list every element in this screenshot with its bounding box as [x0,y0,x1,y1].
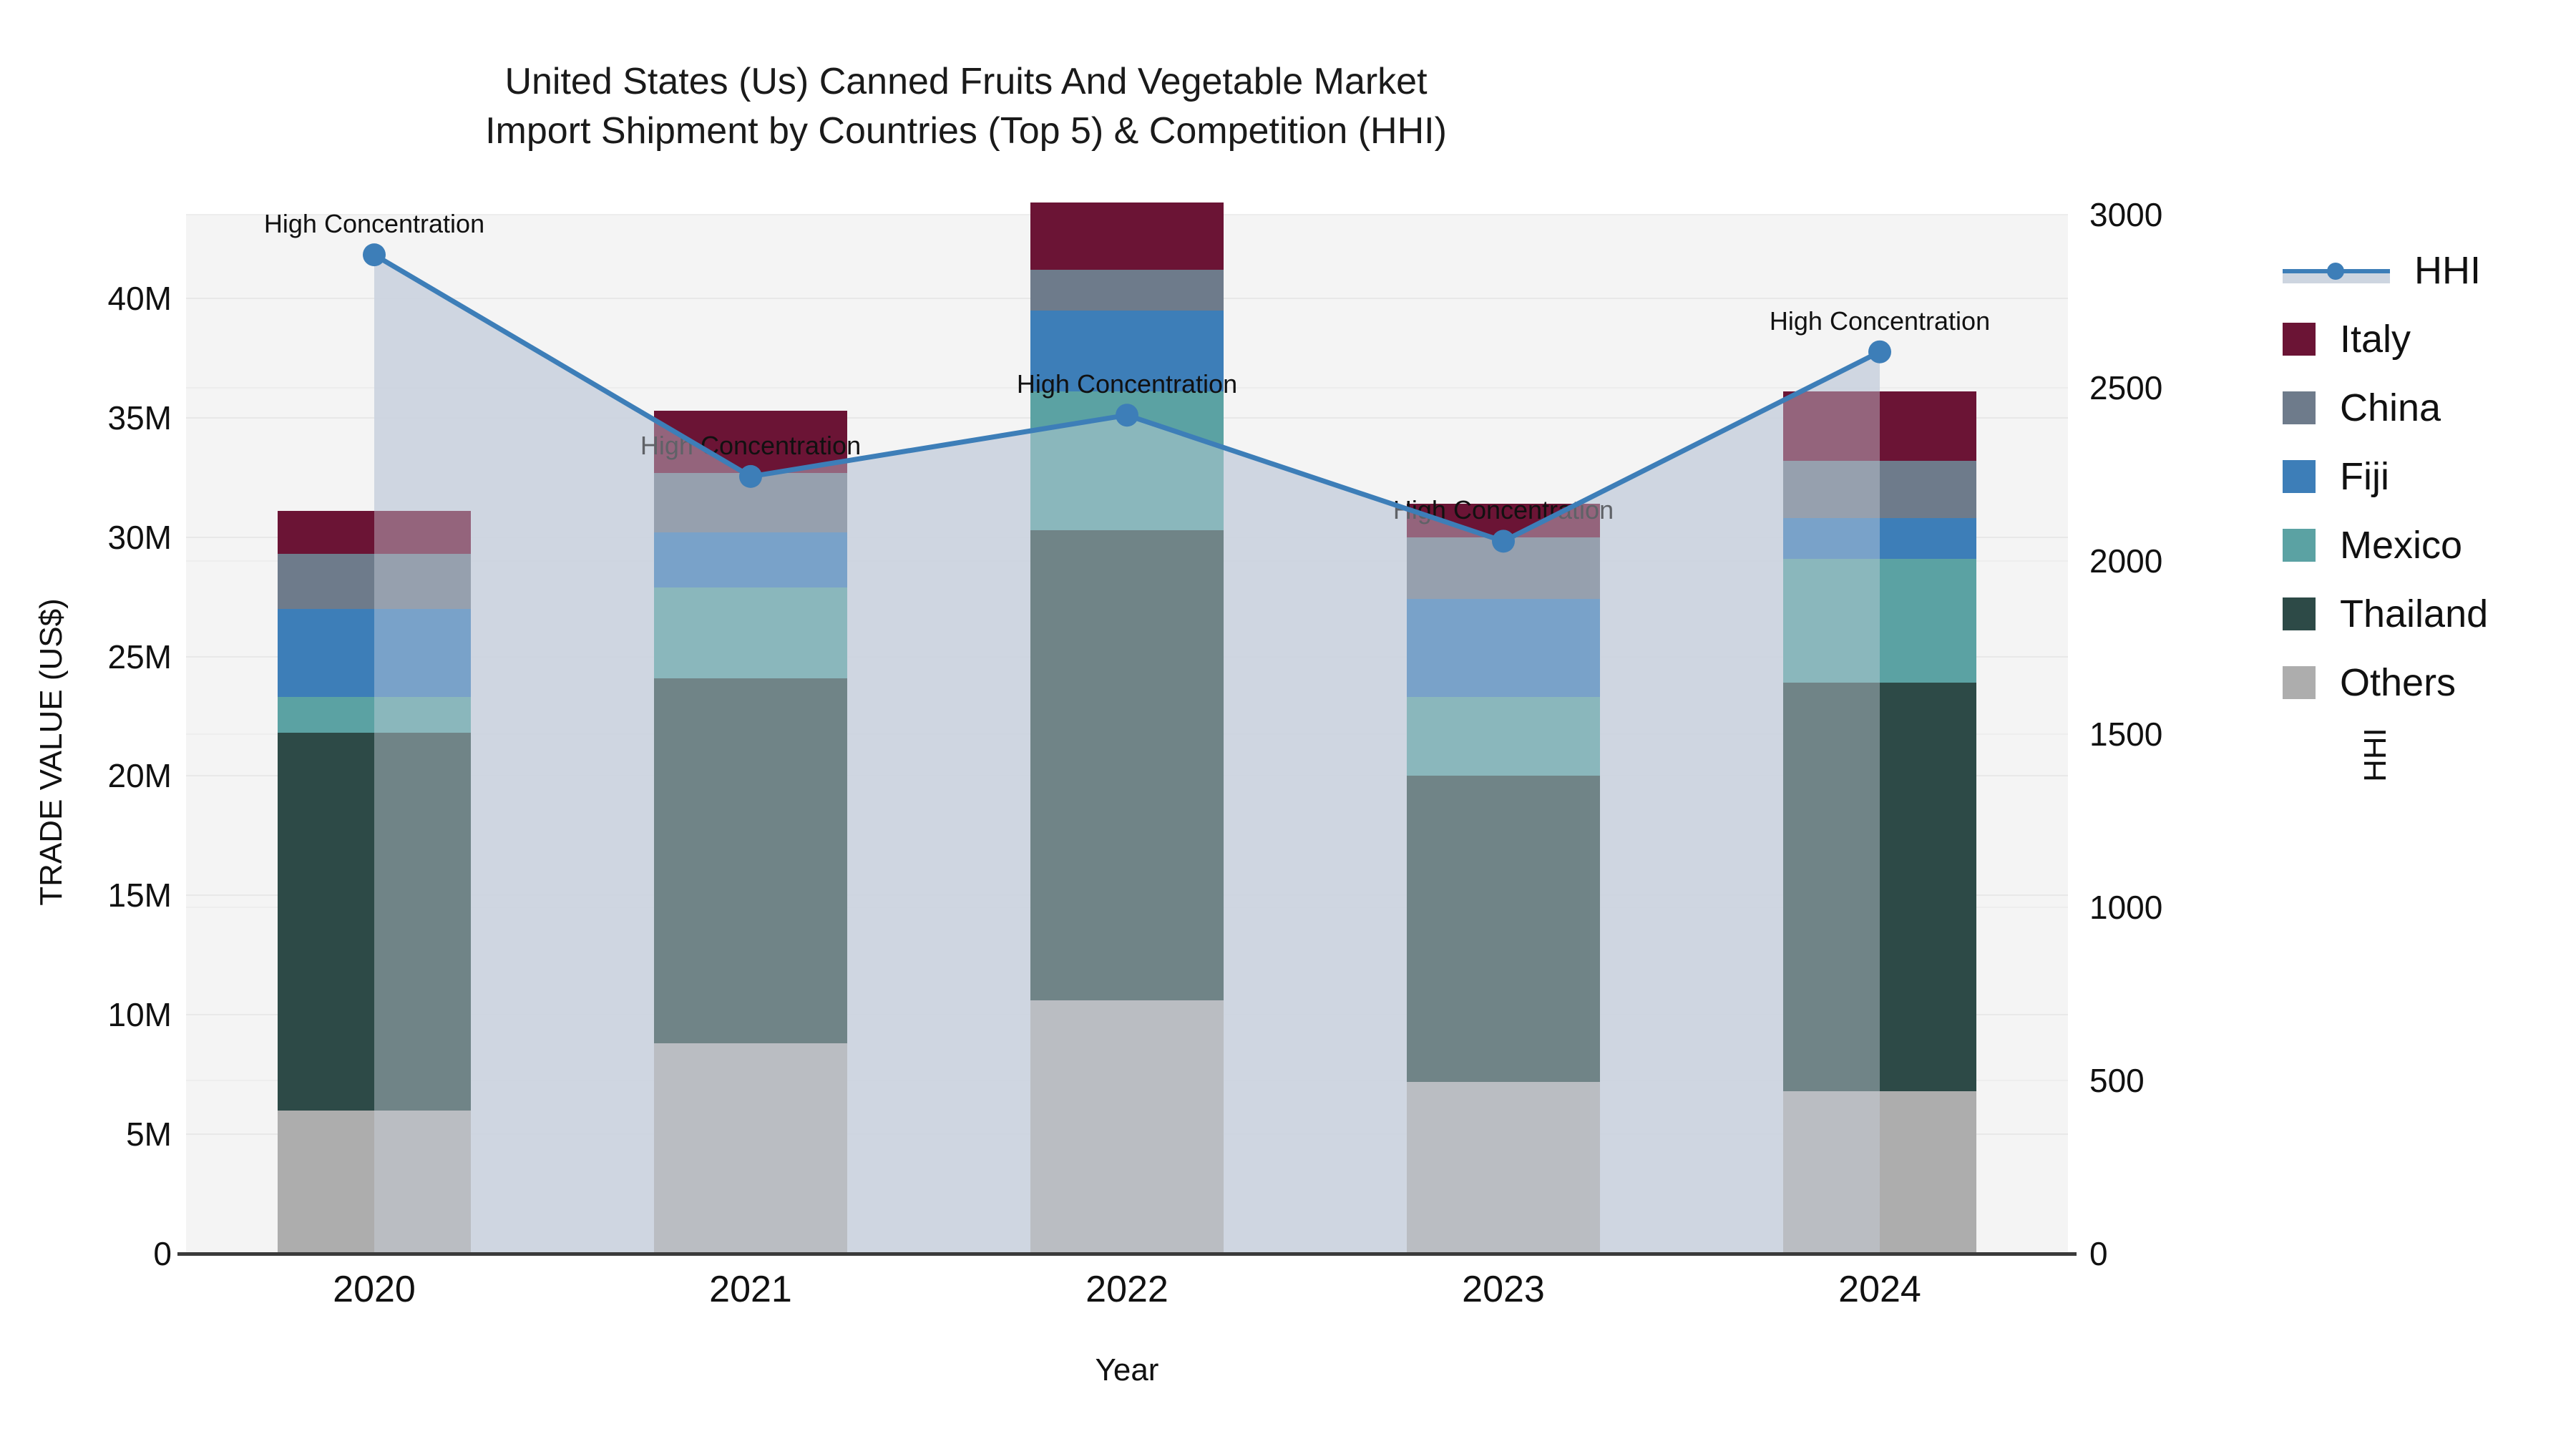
legend: HHIItalyChinaFijiMexicoThailandOthers [2283,236,2488,717]
bar-stack-2023[interactable] [1407,215,1600,1254]
bar-segment-others-2021[interactable] [654,1043,847,1254]
y-tick-left-0: 0 [14,1234,172,1273]
bar-segment-thailand-2024[interactable] [1783,683,1976,1091]
x-tick-2022: 2022 [984,1268,1270,1311]
bar-segment-others-2020[interactable] [278,1111,471,1254]
bar-stack-2024[interactable] [1783,215,1976,1254]
bar-segment-fiji-2021[interactable] [654,532,847,587]
bar-segment-china-2023[interactable] [1407,537,1600,600]
legend-item-mexico[interactable]: Mexico [2283,511,2488,580]
legend-swatch-others-icon [2283,666,2316,699]
y-axis-left-title: TRADE VALUE (US$) [34,537,69,967]
legend-label: Thailand [2340,592,2488,636]
legend-label: Others [2340,660,2456,705]
bar-segment-mexico-2023[interactable] [1407,697,1600,776]
plot-area: High ConcentrationHigh ConcentrationHigh… [186,215,2068,1254]
bar-segment-mexico-2021[interactable] [654,587,847,678]
legend-dot-icon [2327,263,2344,280]
bar-segment-mexico-2022[interactable] [1030,391,1224,530]
legend-label: Italy [2340,317,2411,361]
y-tick-right-2000: 2000 [2089,542,2275,580]
annotation-high-concentration-2024: High Concentration [1770,306,1990,336]
legend-swatch-fiji-icon [2283,460,2316,493]
legend-item-others[interactable]: Others [2283,648,2488,717]
annotation-high-concentration-2022: High Concentration [1017,369,1237,399]
y-tick-left-10M: 10M [14,995,172,1034]
y-tick-right-0: 0 [2089,1234,2275,1273]
legend-label: Mexico [2340,523,2462,567]
bar-segment-others-2022[interactable] [1030,1000,1224,1254]
bar-segment-others-2023[interactable] [1407,1082,1600,1254]
y-tick-left-35M: 35M [14,399,172,437]
annotation-high-concentration-2020: High Concentration [264,209,484,239]
bar-segment-china-2020[interactable] [278,554,471,609]
legend-item-fiji[interactable]: Fiji [2283,442,2488,511]
x-tick-2024: 2024 [1737,1268,2023,1311]
bar-segment-thailand-2023[interactable] [1407,776,1600,1081]
chart-title-line-1: United States (Us) Canned Fruits And Veg… [0,57,1932,107]
bar-segment-fiji-2024[interactable] [1783,518,1976,559]
annotation-high-concentration-2023: High Concentration [1393,495,1614,525]
y-tick-left-40M: 40M [14,279,172,318]
bar-segment-thailand-2022[interactable] [1030,530,1224,1001]
chart-title: United States (Us) Canned Fruits And Veg… [0,57,1932,155]
legend-label: China [2340,386,2441,430]
legend-line-marker-icon [2283,254,2390,287]
legend-item-thailand[interactable]: Thailand [2283,580,2488,648]
bar-segment-others-2024[interactable] [1783,1091,1976,1254]
legend-label: Fiji [2340,454,2389,499]
bar-segment-mexico-2020[interactable] [278,697,471,733]
y-axis-zero-tick [177,1252,187,1256]
bar-segment-italy-2022[interactable] [1030,203,1224,269]
legend-item-china[interactable]: China [2283,374,2488,442]
y-tick-right-500: 500 [2089,1061,2275,1100]
x-tick-2021: 2021 [608,1268,894,1311]
y-tick-right-1000: 1000 [2089,888,2275,927]
y-tick-right-2500: 2500 [2089,369,2275,407]
x-tick-2020: 2020 [231,1268,517,1311]
bar-segment-china-2024[interactable] [1783,461,1976,518]
bar-segment-italy-2024[interactable] [1783,391,1976,461]
bar-segment-fiji-2020[interactable] [278,609,471,698]
legend-item-hhi[interactable]: HHI [2283,236,2488,305]
x-tick-2023: 2023 [1360,1268,1646,1311]
legend-swatch-mexico-icon [2283,529,2316,562]
bar-segment-italy-2020[interactable] [278,511,471,554]
y-tick-left-5M: 5M [14,1115,172,1153]
x-axis-line [177,1252,2077,1256]
bar-segment-thailand-2021[interactable] [654,678,847,1044]
bar-segment-china-2022[interactable] [1030,270,1224,311]
chart-title-line-2: Import Shipment by Countries (Top 5) & C… [0,107,1932,156]
legend-item-italy[interactable]: Italy [2283,305,2488,374]
y-tick-right-1500: 1500 [2089,715,2275,753]
bar-segment-thailand-2020[interactable] [278,733,471,1110]
bar-segment-china-2021[interactable] [654,473,847,532]
bar-segment-mexico-2024[interactable] [1783,559,1976,683]
bar-stack-2021[interactable] [654,215,847,1254]
bar-stack-2020[interactable] [278,215,471,1254]
annotation-high-concentration-2021: High Concentration [640,431,861,461]
bar-segment-fiji-2023[interactable] [1407,599,1600,697]
x-axis-title: Year [186,1352,2068,1388]
legend-swatch-italy-icon [2283,323,2316,356]
chart-root: United States (Us) Canned Fruits And Veg… [0,0,2576,1449]
y-tick-right-3000: 3000 [2089,195,2275,234]
legend-swatch-china-icon [2283,391,2316,424]
legend-label: HHI [2414,248,2481,293]
legend-swatch-thailand-icon [2283,597,2316,630]
